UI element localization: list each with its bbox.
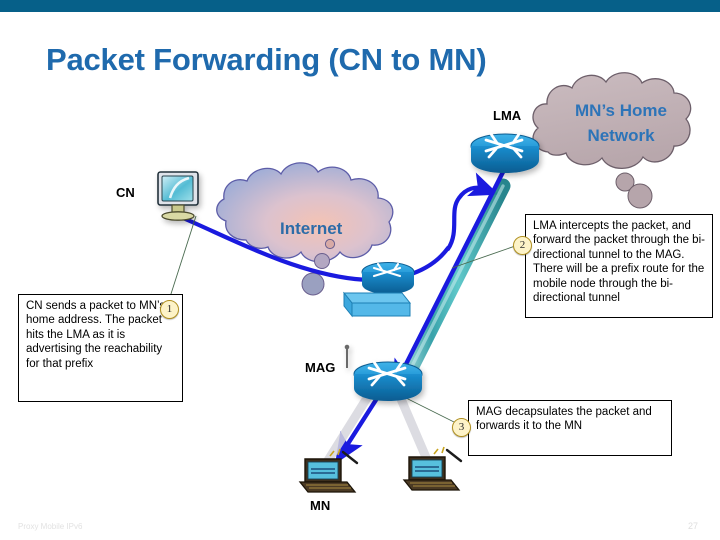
callout-badge-3: 3 <box>452 418 471 437</box>
leader-line-1 <box>170 216 196 297</box>
internet-router-icon <box>362 263 414 295</box>
callout-badge-1: 1 <box>160 300 179 319</box>
desktop-computer-icon <box>158 172 198 220</box>
laptop-icon <box>404 447 461 490</box>
footer-label: Proxy Mobile IPv6 <box>18 522 82 531</box>
node-label-mag: MAG <box>305 360 335 375</box>
wireless-beam <box>322 390 372 470</box>
node-label-lma: LMA <box>493 108 521 123</box>
home-network-cloud-label: MN’s Home Network <box>566 98 676 148</box>
internet-cloud-label: Internet <box>280 219 342 239</box>
internet-switch-icon <box>344 293 410 316</box>
node-label-mn: MN <box>310 498 330 513</box>
page-number: 27 <box>688 521 698 531</box>
callout-box-2: LMA intercepts the packet, and forward t… <box>525 214 713 318</box>
lma-router-icon <box>471 134 539 173</box>
node-label-cn: CN <box>116 185 135 200</box>
wireless-beam-2 <box>398 392 428 462</box>
slide-canvas: Packet Forwarding (CN to MN) <box>0 0 720 540</box>
callout-badge-2: 2 <box>513 236 532 255</box>
callout-box-3: MAG decapsulates the packet and forwards… <box>468 400 672 456</box>
callout-box-1: CN sends a packet to MN’s home address. … <box>18 294 183 402</box>
